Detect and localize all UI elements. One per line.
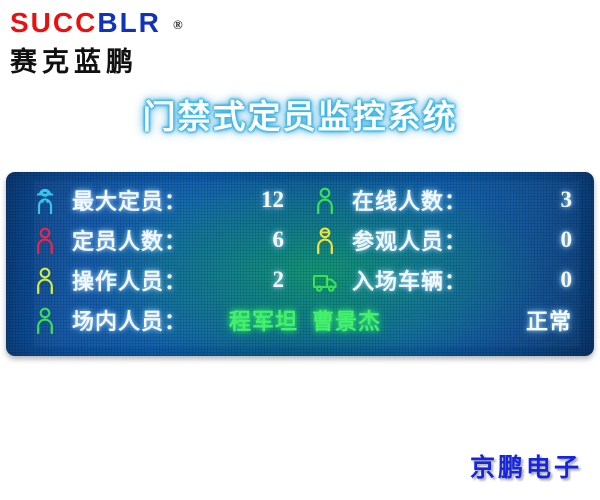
stat-label: 在线人数： [352, 184, 467, 216]
person-online-icon [312, 185, 338, 215]
led-row: 操作人员： 2 入场车辆： 0 [6, 260, 594, 300]
stat-label: 定员人数： [72, 224, 187, 256]
stat-value: 0 [561, 267, 595, 293]
stat-label: 场内人员： [72, 304, 187, 336]
stat-label: 参观人员： [352, 224, 467, 256]
stat-value: 6 [273, 227, 307, 253]
led-row: 场内人员： 程军坦曹景杰 正常 [6, 300, 594, 340]
stat-label: 入场车辆： [352, 264, 467, 296]
stat-value: 12 [261, 187, 306, 213]
brand-logo: SUCCBLR ® 赛克蓝鹏 [10, 8, 210, 70]
stat-assigned-count: 定员人数： 6 [6, 220, 306, 260]
stat-operator-count: 操作人员： 2 [6, 260, 306, 300]
led-rows-container: 最大定员： 12 在线人数： 3 [6, 180, 594, 356]
stat-online-count: 在线人数： 3 [306, 180, 594, 220]
stat-vehicle-count: 入场车辆： 0 [306, 260, 594, 300]
stat-personnel-onsite: 场内人员： 程军坦曹景杰 正常 [6, 300, 594, 340]
person-visitor-icon [312, 225, 338, 255]
person-hardhat-icon [32, 185, 58, 215]
brand-wordmark-blue: BLR [97, 7, 161, 38]
page-title: 门禁式定员监控系统 [0, 90, 600, 138]
truck-icon [312, 265, 338, 295]
stat-label: 最大定员： [72, 184, 187, 216]
stat-label: 操作人员： [72, 264, 187, 296]
personnel-name-list: 程军坦曹景杰 [229, 304, 381, 336]
personnel-name: 曹景杰 [312, 309, 381, 334]
brand-wordmark: SUCCBLR ® [10, 8, 210, 38]
led-row: 定员人数： 6 参观人员： 0 [6, 220, 594, 260]
personnel-name: 程军坦 [229, 309, 298, 334]
stat-value: 2 [273, 267, 307, 293]
person-operator-icon [32, 265, 58, 295]
person-icon [32, 225, 58, 255]
registered-trademark-icon: ® [173, 10, 185, 40]
stat-value: 0 [561, 227, 595, 253]
stat-visitor-count: 参观人员： 0 [306, 220, 594, 260]
status-badge: 正常 [526, 304, 594, 336]
footer-company-name: 京鹏电子 [470, 448, 582, 484]
led-row: 最大定员： 12 在线人数： 3 [6, 180, 594, 220]
brand-chinese-name: 赛克蓝鹏 [10, 40, 210, 79]
person-inside-icon [32, 305, 58, 335]
led-display-board: 最大定员： 12 在线人数： 3 [6, 172, 594, 356]
brand-wordmark-red: SUCC [10, 7, 97, 38]
stat-value: 3 [561, 187, 595, 213]
stat-max-capacity: 最大定员： 12 [6, 180, 306, 220]
